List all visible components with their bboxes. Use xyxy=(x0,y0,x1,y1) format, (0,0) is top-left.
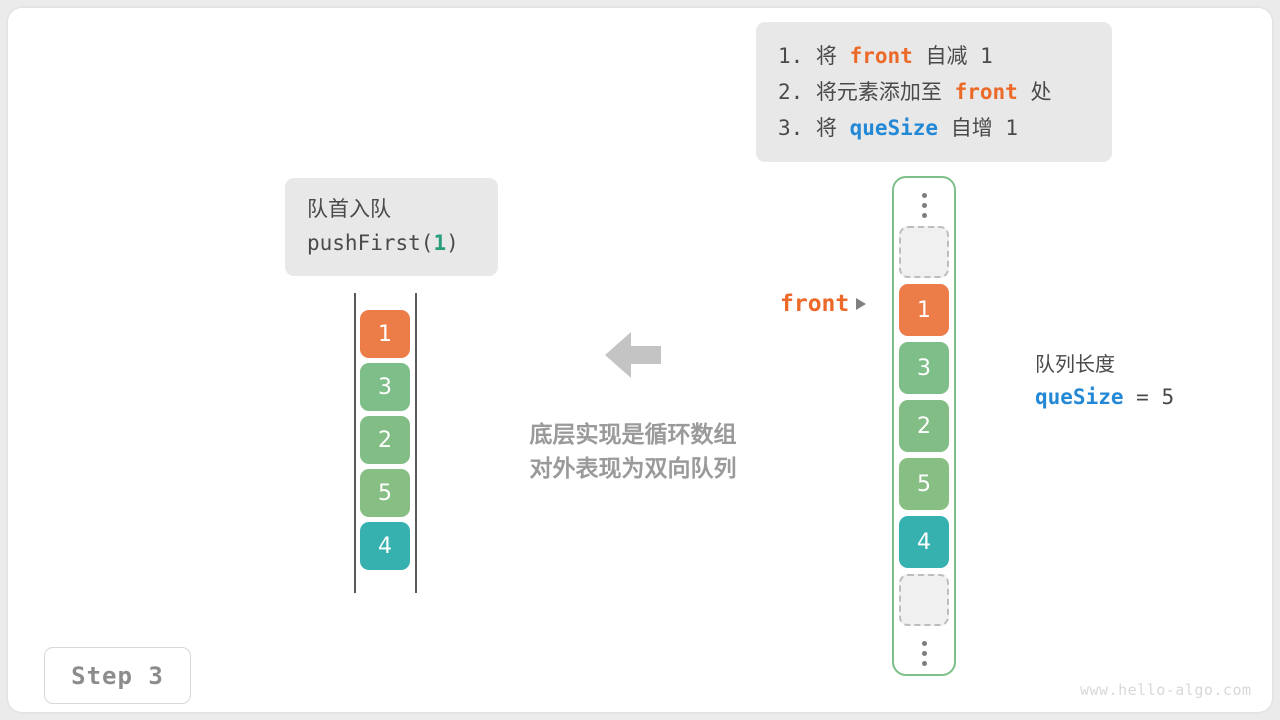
instruction-1-prefix: 1. 将 xyxy=(778,44,850,68)
instruction-line-3: 3. 将 queSize 自增 1 xyxy=(778,110,1112,146)
operation-call-prefix: pushFirst( xyxy=(307,231,433,255)
circular-array: 1 3 2 5 4 xyxy=(892,176,956,676)
watermark: www.hello-algo.com xyxy=(1080,681,1252,699)
operation-call-suffix: ) xyxy=(446,231,459,255)
logical-cell: 1 xyxy=(360,310,410,358)
logical-queue: 1 3 2 5 4 xyxy=(354,293,417,593)
instruction-2-keyword: front xyxy=(955,80,1018,104)
front-pointer-label: front xyxy=(780,291,849,317)
ellipsis-bottom-icon xyxy=(899,632,949,674)
operation-box: 队首入队 pushFirst(1) xyxy=(285,178,498,276)
queue-size-equals: = xyxy=(1124,385,1162,409)
queue-left-bar xyxy=(354,293,356,593)
queue-size-title: 队列长度 xyxy=(1035,348,1174,380)
queue-right-bar xyxy=(415,293,417,593)
operation-title: 队首入队 xyxy=(307,192,498,226)
instruction-2-suffix: 处 xyxy=(1018,80,1052,104)
instruction-box: 1. 将 front 自减 1 2. 将元素添加至 front 处 3. 将 q… xyxy=(756,22,1112,162)
ellipsis-top-icon xyxy=(899,184,949,226)
instruction-line-2: 2. 将元素添加至 front 处 xyxy=(778,74,1112,110)
logical-cell: 5 xyxy=(360,469,410,517)
array-cell: 1 xyxy=(899,284,949,336)
queue-size-value: queSize = 5 xyxy=(1035,380,1174,414)
instruction-3-keyword: queSize xyxy=(850,116,939,140)
caption-line-2: 对外表现为双向队列 xyxy=(508,452,758,486)
array-cell: 3 xyxy=(899,342,949,394)
logical-cell: 2 xyxy=(360,416,410,464)
queue-size-var: queSize xyxy=(1035,385,1124,409)
logical-cell: 3 xyxy=(360,363,410,411)
queue-size-note: 队列长度 queSize = 5 xyxy=(1035,348,1174,414)
queue-size-number: 5 xyxy=(1161,385,1174,409)
instruction-1-suffix: 自减 1 xyxy=(913,44,993,68)
array-cell: 5 xyxy=(899,458,949,510)
instruction-1-keyword: front xyxy=(850,44,913,68)
instruction-2-prefix: 2. 将元素添加至 xyxy=(778,80,955,104)
step-badge: Step 3 xyxy=(44,647,191,704)
operation-call-arg: 1 xyxy=(433,231,446,255)
circular-array-cells: 1 3 2 5 4 xyxy=(899,184,949,674)
logical-queue-cells: 1 3 2 5 4 xyxy=(360,310,410,575)
diagram-canvas: 1. 将 front 自减 1 2. 将元素添加至 front 处 3. 将 q… xyxy=(8,8,1272,712)
logical-cell: 4 xyxy=(360,522,410,570)
array-cell-empty xyxy=(899,574,949,626)
transform-arrow-icon xyxy=(605,330,661,380)
operation-call: pushFirst(1) xyxy=(307,226,498,260)
array-cell: 4 xyxy=(899,516,949,568)
pointer-arrow-icon xyxy=(856,298,866,310)
caption-text: 底层实现是循环数组 对外表现为双向队列 xyxy=(508,418,758,486)
caption-line-1: 底层实现是循环数组 xyxy=(508,418,758,452)
instruction-line-1: 1. 将 front 自减 1 xyxy=(778,38,1112,74)
array-cell-empty xyxy=(899,226,949,278)
front-pointer: front xyxy=(780,291,866,317)
instruction-3-suffix: 自增 1 xyxy=(938,116,1018,140)
array-cell: 2 xyxy=(899,400,949,452)
instruction-3-prefix: 3. 将 xyxy=(778,116,850,140)
